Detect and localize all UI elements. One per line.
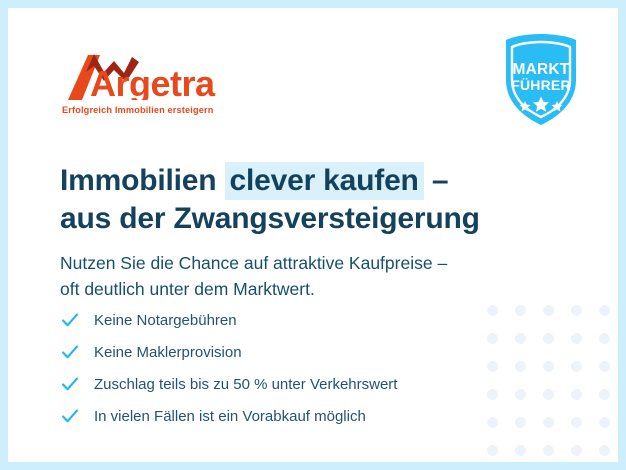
dot — [571, 417, 582, 428]
dot — [487, 445, 498, 456]
dot — [599, 361, 610, 372]
benefits-list: Keine Notargebühren Keine Maklerprovisio… — [60, 305, 530, 433]
dot — [599, 389, 610, 400]
headline-suffix: – — [424, 164, 449, 197]
dot — [515, 445, 526, 456]
dot — [543, 417, 554, 428]
headline: Immobilien clever kaufen – aus der Zwang… — [60, 162, 560, 238]
logo-tagline: Erfolgreich Immobilien ersteigern — [62, 105, 213, 115]
dot — [599, 445, 610, 456]
check-icon — [60, 342, 80, 362]
dot — [571, 361, 582, 372]
banner-content-area: Argetra Erfolgreich Immobilien ersteiger… — [8, 8, 618, 462]
headline-line-2: aus der Zwangsversteigerung — [60, 200, 560, 238]
dot — [543, 333, 554, 344]
badge-line1: MARKT — [513, 61, 570, 78]
market-leader-badge: MARKT FÜHRER — [498, 32, 584, 128]
dot — [571, 389, 582, 400]
dot — [543, 445, 554, 456]
subheadline-line-2: oft deutlich unter dem Marktwert. — [60, 276, 580, 303]
list-item-label: Keine Notargebühren — [94, 312, 237, 329]
promo-banner: Argetra Erfolgreich Immobilien ersteiger… — [0, 0, 626, 470]
headline-prefix: Immobilien — [60, 164, 225, 197]
dot — [571, 305, 582, 316]
list-item: Zuschlag teils bis zu 50 % unter Verkehr… — [60, 369, 530, 399]
check-icon — [60, 310, 80, 330]
list-item: Keine Notargebühren — [60, 305, 530, 335]
dot — [543, 305, 554, 316]
badge-line2: FÜHRER — [511, 77, 571, 93]
dot — [599, 333, 610, 344]
brand-logo[interactable]: Argetra Erfolgreich Immobilien ersteiger… — [60, 52, 260, 120]
argetra-logo-icon: Argetra — [60, 52, 256, 100]
dot — [543, 361, 554, 372]
list-item-label: Keine Maklerprovision — [94, 344, 242, 361]
headline-highlight: clever kaufen — [225, 162, 424, 200]
subheadline-line-1: Nutzen Sie die Chance auf attraktive Kau… — [60, 250, 580, 277]
list-item-label: In vielen Fällen ist ein Vorabkauf mögli… — [94, 408, 366, 425]
dot — [543, 389, 554, 400]
headline-line-1: Immobilien clever kaufen – — [60, 162, 560, 200]
check-icon — [60, 374, 80, 394]
svg-text:Argetra: Argetra — [90, 63, 216, 100]
dot — [599, 305, 610, 316]
list-item-label: Zuschlag teils bis zu 50 % unter Verkehr… — [94, 376, 397, 393]
dot — [571, 333, 582, 344]
list-item: In vielen Fällen ist ein Vorabkauf mögli… — [60, 401, 530, 431]
shield-icon: MARKT FÜHRER — [498, 32, 584, 128]
subheadline: Nutzen Sie die Chance auf attraktive Kau… — [60, 250, 580, 304]
check-icon — [60, 406, 80, 426]
list-item: Keine Maklerprovision — [60, 337, 530, 367]
dot — [571, 445, 582, 456]
dot — [599, 417, 610, 428]
